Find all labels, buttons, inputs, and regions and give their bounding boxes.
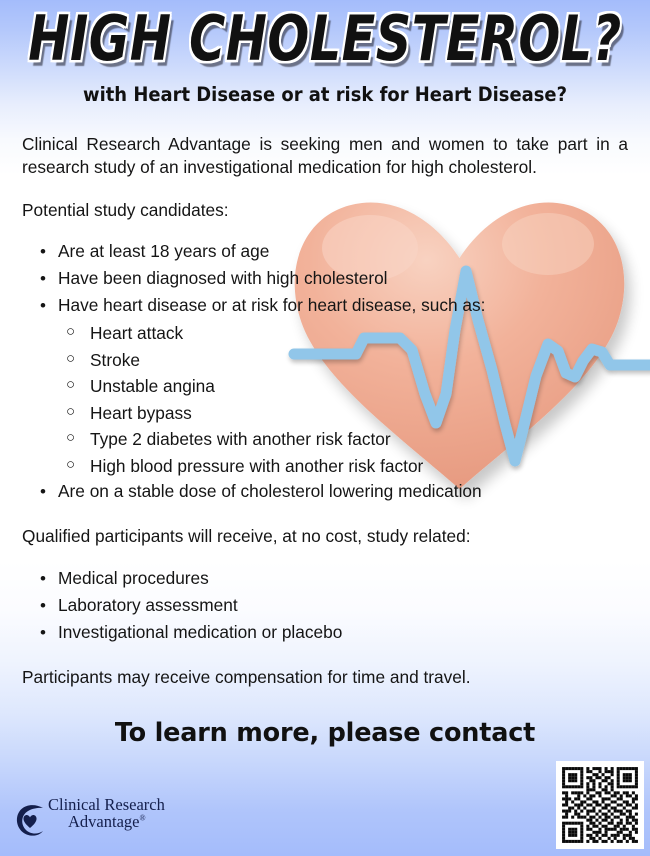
title-block: HIGH CHOLESTEROL? — [0, 8, 650, 61]
bullet-icon: • — [40, 266, 46, 292]
list-item: • Have been diagnosed with high choleste… — [22, 266, 628, 292]
company-logo: Clinical Research Advantage® — [14, 797, 214, 845]
list-item: ○ Heart attack — [53, 320, 628, 346]
compensation-note: Participants may receive compensation fo… — [22, 666, 628, 689]
benefits-heading: Qualified participants will receive, at … — [22, 525, 628, 548]
qr-code-image[interactable] — [556, 761, 644, 849]
list-item-label: Laboratory assessment — [58, 595, 238, 615]
sub-bullet-icon: ○ — [66, 426, 75, 449]
list-item: ○ Type 2 diabetes with another risk fact… — [53, 426, 628, 452]
registered-mark-icon: ® — [139, 813, 145, 822]
list-item-label: Medical procedures — [58, 568, 209, 588]
list-item-label: Unstable angina — [90, 376, 215, 396]
list-item: • Have heart disease or at risk for hear… — [22, 293, 628, 319]
sub-bullet-icon: ○ — [66, 320, 75, 343]
qr-code[interactable] — [556, 761, 644, 849]
list-item-label: High blood pressure with another risk fa… — [90, 456, 423, 476]
list-item-label: Have heart disease or at risk for heart … — [58, 295, 485, 315]
spacer — [22, 647, 628, 666]
list-item: • Laboratory assessment — [22, 593, 628, 619]
list-item: • Are at least 18 years of age — [22, 239, 628, 265]
sub-bullet-icon: ○ — [66, 453, 75, 476]
candidates-list-continued: • Are on a stable dose of cholesterol lo… — [22, 479, 628, 505]
sub-bullet-icon: ○ — [66, 347, 75, 370]
bullet-icon: • — [40, 293, 46, 319]
bullet-icon: • — [40, 479, 46, 505]
logo-wordmark: Clinical Research Advantage® — [48, 797, 165, 831]
heart-swirl-icon — [14, 803, 46, 839]
list-item-label: Have been diagnosed with high cholestero… — [58, 268, 388, 288]
bullet-icon: • — [40, 593, 46, 619]
bullet-icon: • — [40, 566, 46, 592]
sub-bullet-icon: ○ — [66, 400, 75, 423]
list-item: ○ Unstable angina — [53, 373, 628, 399]
list-item: ○ Stroke — [53, 347, 628, 373]
list-item: • Medical procedures — [22, 566, 628, 592]
candidates-list: • Are at least 18 years of age • Have be… — [22, 239, 628, 319]
list-item-label: Are at least 18 years of age — [58, 241, 269, 261]
list-item-label: Heart attack — [90, 323, 183, 343]
page-subtitle: with Heart Disease or at risk for Heart … — [26, 83, 624, 106]
list-item-label: Are on a stable dose of cholesterol lowe… — [58, 481, 482, 501]
poster-root: HIGH CHOLESTEROL? with Heart Disease or … — [0, 0, 650, 856]
list-item: • Are on a stable dose of cholesterol lo… — [22, 479, 628, 505]
poster-body: Clinical Research Advantage is seeking m… — [22, 133, 628, 706]
list-item-label: Stroke — [90, 350, 140, 370]
sub-bullet-icon: ○ — [66, 373, 75, 396]
bullet-icon: • — [40, 239, 46, 265]
conditions-list: ○ Heart attack ○ Stroke ○ Unstable angin… — [22, 320, 628, 479]
list-item-label: Heart bypass — [90, 403, 192, 423]
list-item: ○ High blood pressure with another risk … — [53, 453, 628, 479]
logo-line-2: Advantage® — [48, 814, 165, 831]
contact-call-to-action: To learn more, please contact — [0, 718, 650, 748]
list-item-label: Investigational medication or placebo — [58, 622, 342, 642]
bullet-icon: • — [40, 620, 46, 646]
intro-paragraph: Clinical Research Advantage is seeking m… — [22, 133, 628, 179]
benefits-list: • Medical procedures • Laboratory assess… — [22, 566, 628, 646]
list-item-label: Type 2 diabetes with another risk factor — [90, 429, 391, 449]
list-item: • Investigational medication or placebo — [22, 620, 628, 646]
candidates-heading: Potential study candidates: — [22, 199, 628, 222]
list-item: ○ Heart bypass — [53, 400, 628, 426]
spacer — [22, 506, 628, 525]
page-title: HIGH CHOLESTEROL? — [23, 8, 628, 71]
